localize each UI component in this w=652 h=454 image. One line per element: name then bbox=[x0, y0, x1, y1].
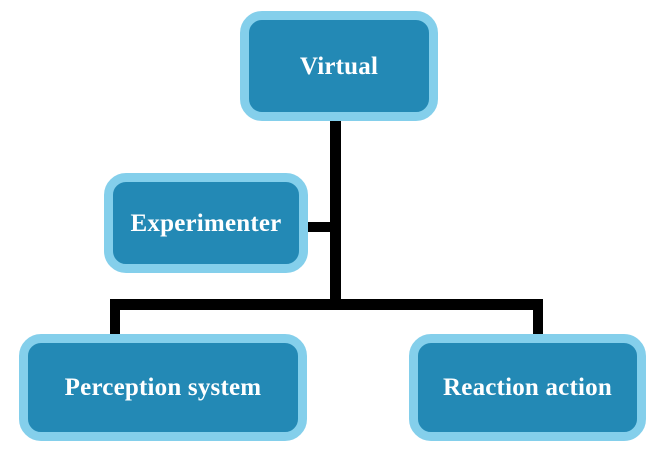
node-reaction-action[interactable]: Reaction action bbox=[409, 334, 646, 441]
node-virtual-label: Virtual bbox=[300, 54, 378, 79]
connector-drop-reaction bbox=[533, 304, 543, 338]
connector-virtual-trunk bbox=[330, 118, 341, 307]
diagram-canvas: Virtual Experimenter Perception system R… bbox=[0, 0, 652, 454]
node-perception-system-label: Perception system bbox=[65, 375, 262, 400]
node-virtual[interactable]: Virtual bbox=[240, 11, 438, 121]
node-experimenter-label: Experimenter bbox=[131, 211, 282, 236]
node-reaction-action-label: Reaction action bbox=[443, 375, 612, 400]
node-experimenter[interactable]: Experimenter bbox=[104, 173, 308, 273]
connector-horizontal-bus bbox=[110, 299, 543, 310]
connector-drop-perception bbox=[110, 304, 120, 338]
connector-branch-experimenter bbox=[308, 222, 334, 232]
node-perception-system[interactable]: Perception system bbox=[19, 334, 307, 441]
